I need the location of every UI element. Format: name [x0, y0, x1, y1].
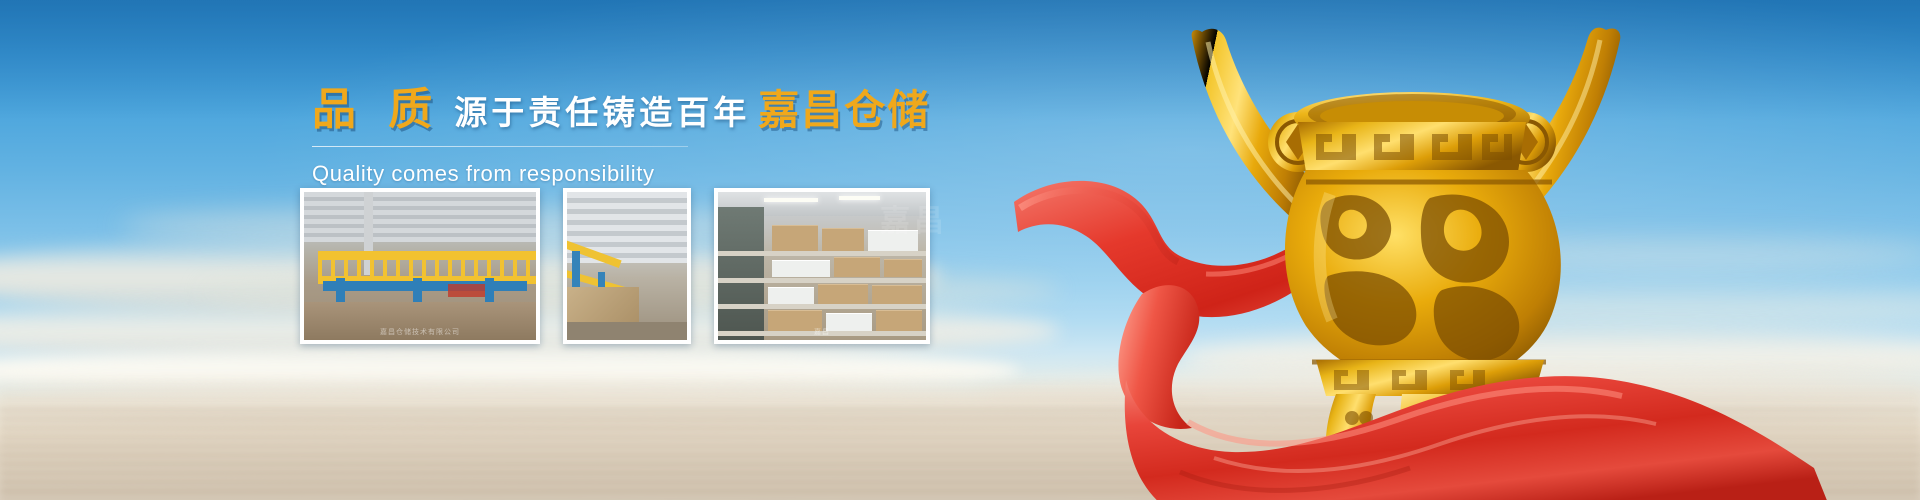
carton-stack — [304, 302, 536, 340]
roof-structure — [304, 192, 536, 242]
shelf-level — [718, 304, 926, 309]
photo-shelving-cartons[interactable]: 嘉昌 — [714, 188, 930, 344]
headline-divider — [312, 146, 688, 147]
photo-strip: 嘉昌仓储技术有限公司 — [300, 188, 930, 344]
carton — [876, 310, 922, 330]
promotional-banner: 品 质 源于责任铸造百年 嘉昌仓储 Quality comes from res… — [0, 0, 1920, 500]
ceiling-light — [764, 198, 818, 202]
shelf-level — [718, 251, 926, 256]
headline: 品 质 源于责任铸造百年 嘉昌仓储 — [312, 88, 952, 132]
carton — [884, 259, 921, 278]
headline-lead: 品 质 — [312, 88, 442, 132]
headline-middle: 源于责任铸造百年 — [454, 96, 750, 129]
brand-name: 嘉昌仓储 — [758, 90, 930, 131]
ceiling-light — [839, 196, 881, 200]
platform-beam — [323, 281, 527, 291]
carton — [768, 310, 822, 330]
stored-goods — [448, 284, 485, 297]
horizon-streaks — [0, 404, 1920, 500]
warehouse-floor — [567, 322, 687, 340]
carton — [772, 225, 818, 251]
carton — [834, 257, 880, 277]
carton — [822, 228, 864, 251]
white-box — [868, 230, 918, 250]
headline-block: 品 质 源于责任铸造百年 嘉昌仓储 Quality comes from res… — [312, 88, 952, 187]
side-shelving — [718, 207, 764, 340]
photo-warehouse-aisle[interactable] — [563, 188, 691, 344]
carton — [818, 284, 868, 304]
photo-mezzanine-racking[interactable]: 嘉昌仓储技术有限公司 — [300, 188, 540, 344]
white-box — [826, 313, 872, 330]
shelf-level — [718, 278, 926, 283]
carton — [872, 285, 922, 304]
white-box — [768, 287, 814, 304]
handrail — [318, 251, 536, 260]
shelf-level — [718, 331, 926, 336]
white-box — [772, 260, 830, 277]
subtitle: Quality comes from responsibility — [312, 161, 952, 187]
